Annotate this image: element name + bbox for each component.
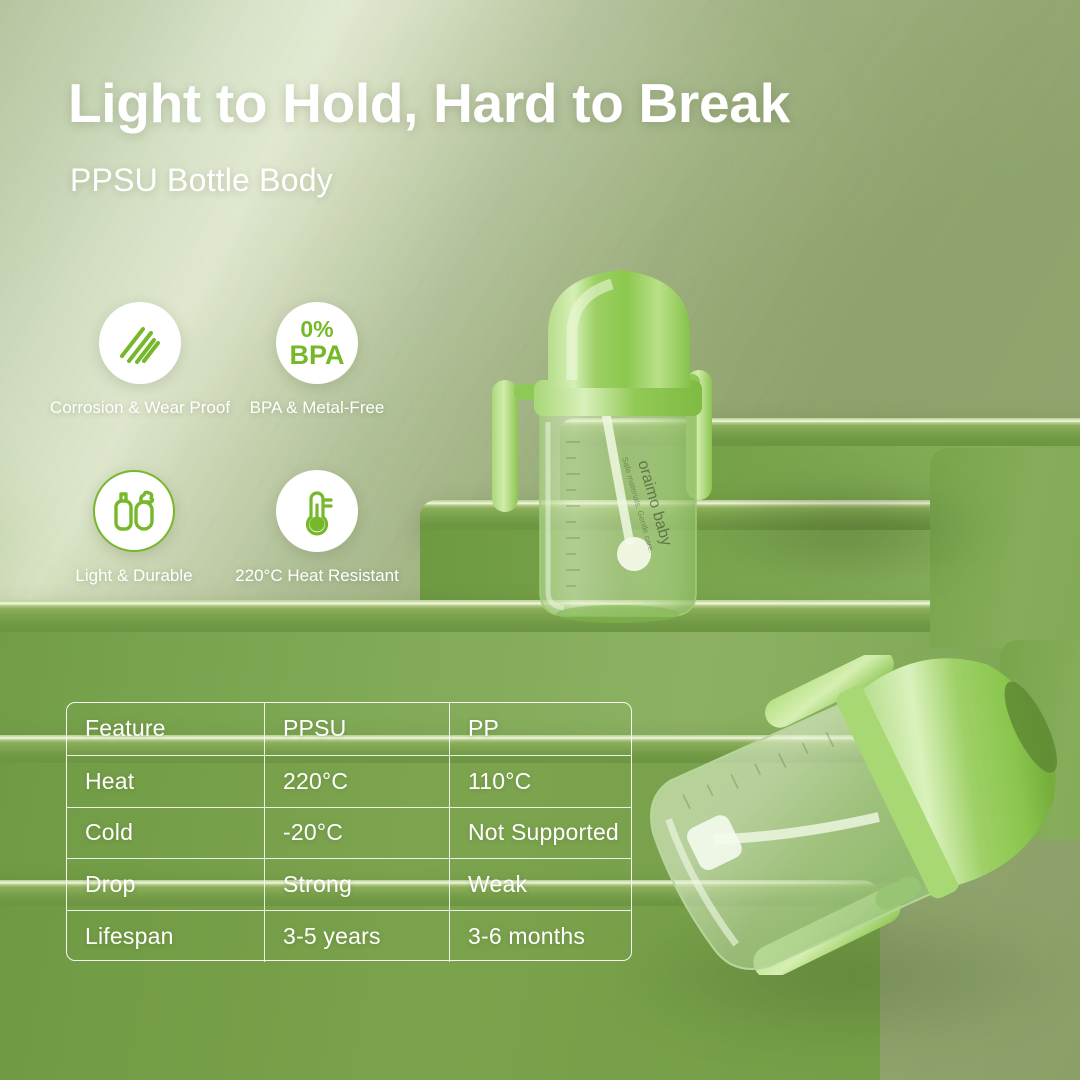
two-bottles-icon bbox=[108, 485, 160, 537]
table-row: Lifespan 3-5 years 3-6 months bbox=[67, 910, 631, 962]
bpa-line-1: 0% bbox=[289, 318, 344, 341]
table-header-cell: PPSU bbox=[265, 703, 450, 755]
feature-label: 220°C Heat Resistant bbox=[235, 566, 399, 586]
table-cell-pp: 110°C bbox=[450, 756, 631, 807]
feature-disc: 0% BPA bbox=[276, 302, 358, 384]
feature-heat-resistant[interactable]: 220°C Heat Resistant bbox=[276, 470, 358, 552]
product-bottle-upright: oraimo baby Safe materials. Gentle care. bbox=[488, 262, 750, 630]
thermometer-icon bbox=[291, 485, 343, 537]
table-cell-feature: Lifespan bbox=[67, 911, 265, 962]
table-header-cell: PP bbox=[450, 703, 631, 755]
feature-label: Light & Durable bbox=[75, 566, 192, 586]
feature-disc bbox=[93, 470, 175, 552]
feature-label: Corrosion & Wear Proof bbox=[50, 398, 230, 418]
feature-disc bbox=[276, 470, 358, 552]
table-cell-feature: Cold bbox=[67, 808, 265, 859]
feature-light-durable[interactable]: Light & Durable bbox=[93, 470, 175, 552]
feature-bpa-metal-free[interactable]: 0% BPA BPA & Metal-Free bbox=[276, 302, 358, 384]
bottle-body bbox=[540, 412, 696, 623]
feature-disc bbox=[99, 302, 181, 384]
table-cell-ppsu: 3-5 years bbox=[265, 911, 450, 962]
table-header-cell: Feature bbox=[67, 703, 265, 755]
scratch-lines-icon bbox=[113, 316, 167, 370]
table-cell-ppsu: Strong bbox=[265, 859, 450, 910]
table-cell-pp: 3-6 months bbox=[450, 911, 631, 962]
bpa-line-2: BPA bbox=[289, 342, 344, 369]
page-subheadline: PPSU Bottle Body bbox=[70, 162, 333, 199]
product-bottle-tilted bbox=[640, 655, 1080, 975]
table-row: Heat 220°C 110°C bbox=[67, 755, 631, 807]
table-cell-feature: Heat bbox=[67, 756, 265, 807]
zero-percent-bpa-icon: 0% BPA bbox=[289, 318, 344, 369]
feature-corrosion-wear-proof[interactable]: Corrosion & Wear Proof bbox=[99, 302, 181, 384]
table-cell-feature: Drop bbox=[67, 859, 265, 910]
table-row: Cold -20°C Not Supported bbox=[67, 807, 631, 859]
table-cell-ppsu: -20°C bbox=[265, 808, 450, 859]
table-row: Drop Strong Weak bbox=[67, 858, 631, 910]
page-headline: Light to Hold, Hard to Break bbox=[68, 75, 790, 133]
feature-label: BPA & Metal-Free bbox=[250, 398, 385, 418]
table-cell-pp: Not Supported bbox=[450, 808, 631, 859]
table-cell-pp: Weak bbox=[450, 859, 631, 910]
table-cell-ppsu: 220°C bbox=[265, 756, 450, 807]
table-header-row: Feature PPSU PP bbox=[67, 703, 631, 755]
comparison-table: Feature PPSU PP Heat 220°C 110°C Cold -2… bbox=[66, 702, 632, 961]
